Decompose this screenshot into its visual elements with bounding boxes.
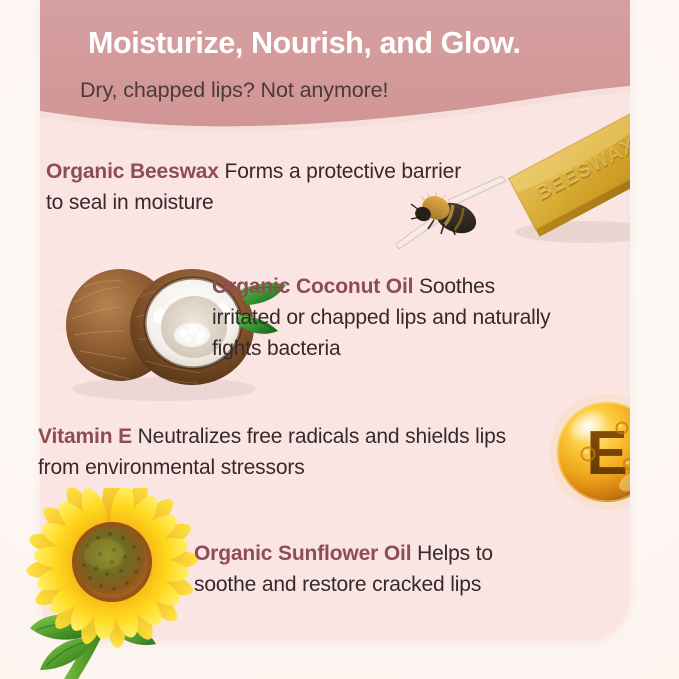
infographic-canvas: Moisturize, Nourish, and Glow. Dry, chap…	[0, 0, 679, 679]
page-subtitle: Dry, chapped lips? Not anymore!	[80, 78, 620, 103]
sunflower-image	[8, 488, 223, 679]
page-title: Moisturize, Nourish, and Glow.	[88, 27, 618, 61]
vitamin-e-capsule-image: E	[545, 390, 630, 515]
vitamin-e-letter: E	[586, 419, 627, 488]
ingredient-beeswax-name: Organic Beeswax	[46, 160, 219, 183]
ingredient-coconut-text: Organic Coconut Oil Soothes irritated or…	[212, 271, 562, 364]
ingredient-vitamin-e-name: Vitamin E	[38, 425, 132, 448]
ingredient-coconut-name: Organic Coconut Oil	[212, 275, 413, 298]
ingredient-beeswax-text: Organic Beeswax Forms a protective barri…	[46, 156, 466, 218]
ingredient-sunflower-text: Organic Sunflower Oil Helps to soothe an…	[194, 538, 554, 600]
ingredient-sunflower-name: Organic Sunflower Oil	[194, 542, 411, 565]
beeswax-bar-image: BEESWAX BEESWAX	[495, 106, 630, 256]
ingredient-vitamin-e-text: Vitamin E Neutralizes free radicals and …	[38, 421, 518, 483]
